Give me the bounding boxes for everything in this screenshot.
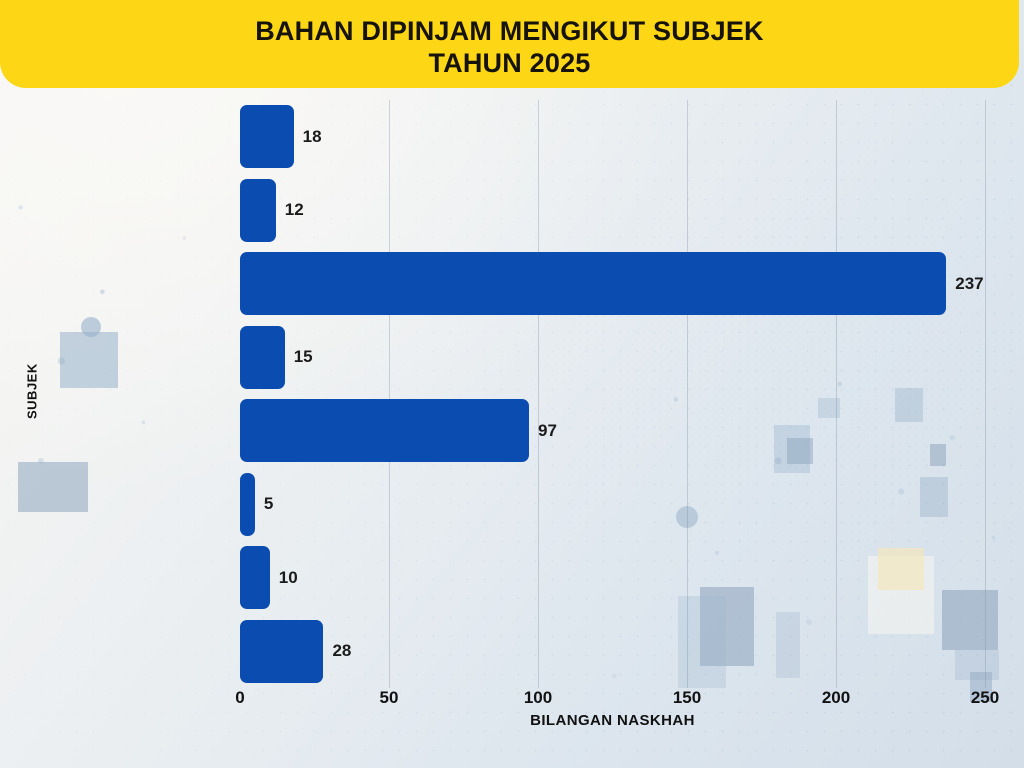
gridline — [985, 100, 986, 688]
bar-series: 1812237159751028 — [240, 100, 985, 688]
bar[interactable] — [240, 326, 285, 389]
y-axis-title: SUBJEK — [22, 331, 42, 451]
bar-value-label: 12 — [285, 200, 304, 220]
bar-row[interactable]: 97 — [240, 399, 985, 462]
bar-row[interactable]: 28 — [240, 620, 985, 683]
x-tick-label: 100 — [524, 688, 552, 708]
bar-row[interactable]: 5 — [240, 473, 985, 536]
x-tick-label: 50 — [380, 688, 399, 708]
bar-row[interactable]: 18 — [240, 105, 985, 168]
bar[interactable] — [240, 473, 255, 536]
bar-value-label: 5 — [264, 494, 273, 514]
bar-value-label: 237 — [955, 274, 983, 294]
bar-value-label: 28 — [332, 641, 351, 661]
plot-area: 1812237159751028 — [240, 100, 985, 688]
decor-block — [60, 332, 118, 388]
x-axis-ticks: 050100150200250 — [240, 688, 985, 714]
page-title: BAHAN DIPINJAM MENGIKUT SUBJEK TAHUN 202… — [255, 16, 764, 80]
x-tick-label: 200 — [822, 688, 850, 708]
bar-value-label: 15 — [294, 347, 313, 367]
bar-row[interactable]: 12 — [240, 179, 985, 242]
decor-block — [81, 317, 101, 337]
bar-row[interactable]: 15 — [240, 326, 985, 389]
title-line-1: BAHAN DIPINJAM MENGIKUT SUBJEK — [255, 16, 764, 46]
bar-value-label: 10 — [279, 568, 298, 588]
bar[interactable] — [240, 546, 270, 609]
title-banner: BAHAN DIPINJAM MENGIKUT SUBJEK TAHUN 202… — [0, 0, 1019, 88]
bar-row[interactable]: 237 — [240, 252, 985, 315]
bar[interactable] — [240, 105, 294, 168]
bar[interactable] — [240, 399, 529, 462]
x-tick-label: 150 — [673, 688, 701, 708]
bar-value-label: 18 — [303, 127, 322, 147]
chart-poster: BAHAN DIPINJAM MENGIKUT SUBJEK TAHUN 202… — [0, 0, 1024, 768]
bar[interactable] — [240, 252, 946, 315]
x-tick-label: 250 — [971, 688, 999, 708]
bar[interactable] — [240, 620, 323, 683]
decor-block — [18, 462, 88, 512]
bar[interactable] — [240, 179, 276, 242]
bar-row[interactable]: 10 — [240, 546, 985, 609]
x-axis-title: BILANGAN NASKHAH — [240, 712, 985, 729]
title-line-2: TAHUN 2025 — [255, 48, 764, 80]
x-tick-label: 0 — [235, 688, 244, 708]
bar-value-label: 97 — [538, 421, 557, 441]
